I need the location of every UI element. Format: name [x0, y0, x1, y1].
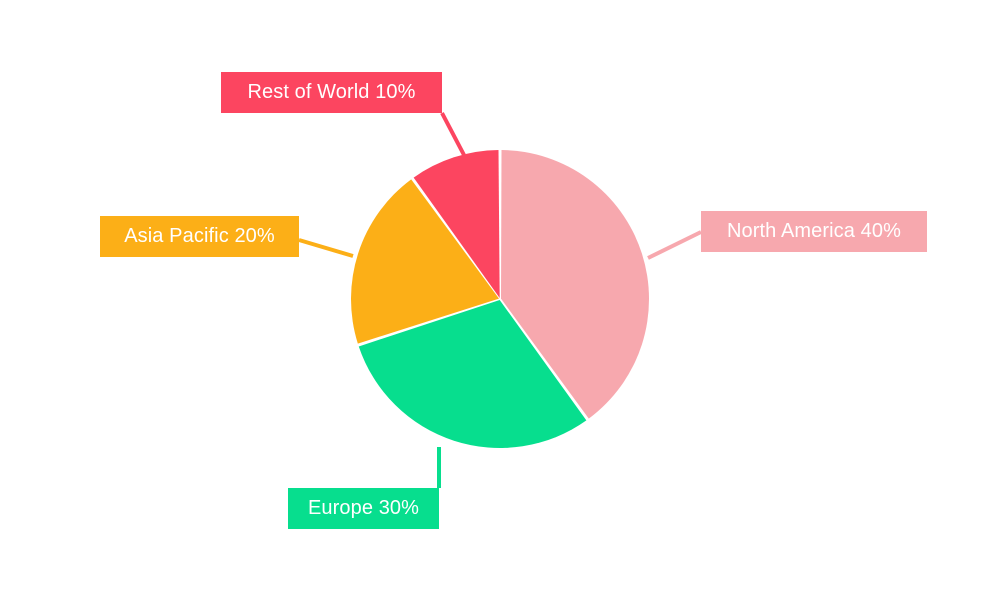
slice-label-europe[interactable]: Europe 30%: [288, 488, 439, 529]
slice-label-rest-of-world[interactable]: Rest of World 10%: [221, 72, 442, 113]
leader-line-north-america: [648, 232, 701, 258]
slice-label-asia-pacific[interactable]: Asia Pacific 20%: [100, 216, 299, 257]
pie-chart: North America 40%Europe 30%Asia Pacific …: [0, 0, 1000, 600]
pie-slice-group: [351, 150, 649, 448]
leader-line-asia-pacific: [299, 240, 353, 256]
slice-label-north-america[interactable]: North America 40%: [701, 211, 927, 252]
pie-chart-canvas: [0, 0, 1000, 600]
leader-line-rest-of-world: [442, 113, 464, 155]
